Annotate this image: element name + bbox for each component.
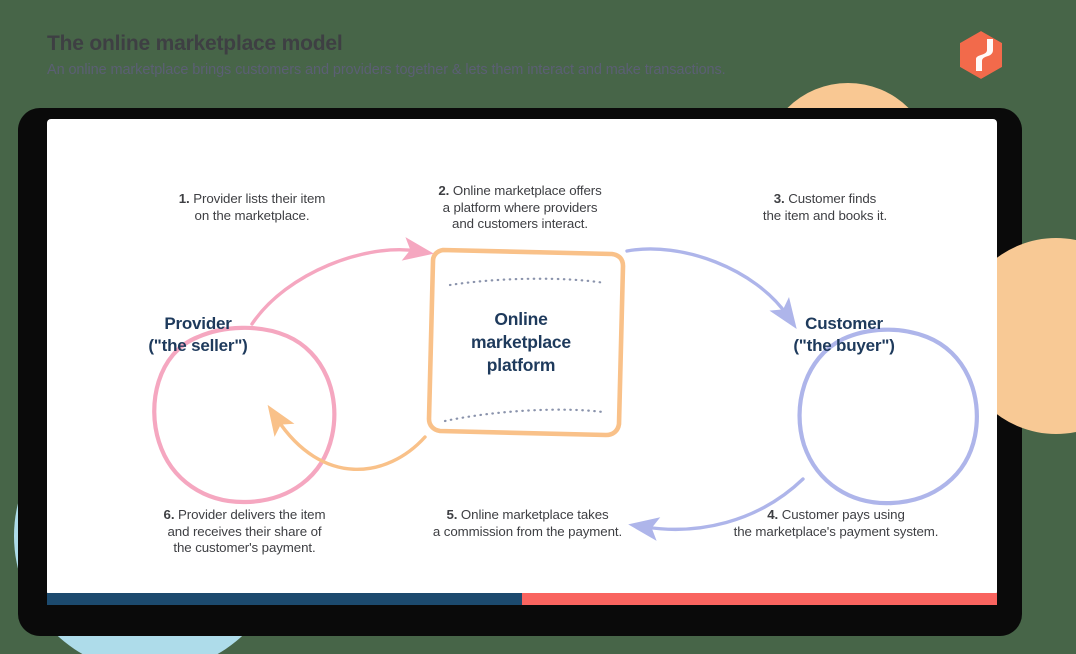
hexagon-s-logo-icon (958, 30, 1004, 80)
step-number-3: 3. (774, 191, 788, 206)
accent-bar-right (522, 593, 997, 605)
node-label-provider: Provider ("the seller") (118, 313, 278, 358)
header: The online marketplace model An online m… (47, 32, 947, 80)
step-text-6: Provider delivers the item and receives … (168, 507, 326, 555)
step-number-6: 6. (164, 507, 178, 522)
accent-bar-left (47, 593, 522, 605)
step-number-1: 1. (179, 191, 193, 206)
step-text-5: Online marketplace takes a commission fr… (433, 507, 622, 538)
step-text-4: Customer pays using the marketplace's pa… (734, 507, 939, 538)
step-number-2: 2. (438, 183, 452, 198)
infographic-canvas: The online marketplace model An online m… (0, 0, 1076, 654)
step-caption-2: 2. Online marketplace offers a platform … (405, 167, 635, 232)
step-number-4: 4. (767, 507, 781, 522)
accent-bar (47, 593, 997, 605)
node-label-customer: Customer ("the buyer") (762, 313, 926, 358)
step-text-2: Online marketplace offers a platform whe… (443, 183, 602, 231)
arrow-step-6 (277, 419, 425, 469)
arrow-step-3 (627, 249, 787, 315)
step-caption-3: 3. Customer finds the item and books it. (690, 175, 960, 224)
step-caption-6: 6. Provider delivers the item and receiv… (112, 491, 377, 556)
page-title: The online marketplace model (47, 32, 947, 56)
page-subtitle: An online marketplace brings customers a… (47, 62, 947, 79)
step-caption-1: 1. Provider lists their item on the mark… (117, 175, 387, 224)
step-caption-5: 5. Online marketplace takes a commission… (405, 491, 650, 540)
step-number-5: 5. (446, 507, 460, 522)
node-label-platform: Online marketplace platform (440, 308, 602, 377)
step-text-1: Provider lists their item on the marketp… (193, 191, 325, 222)
step-caption-4: 4. Customer pays using the marketplace's… (700, 491, 972, 540)
